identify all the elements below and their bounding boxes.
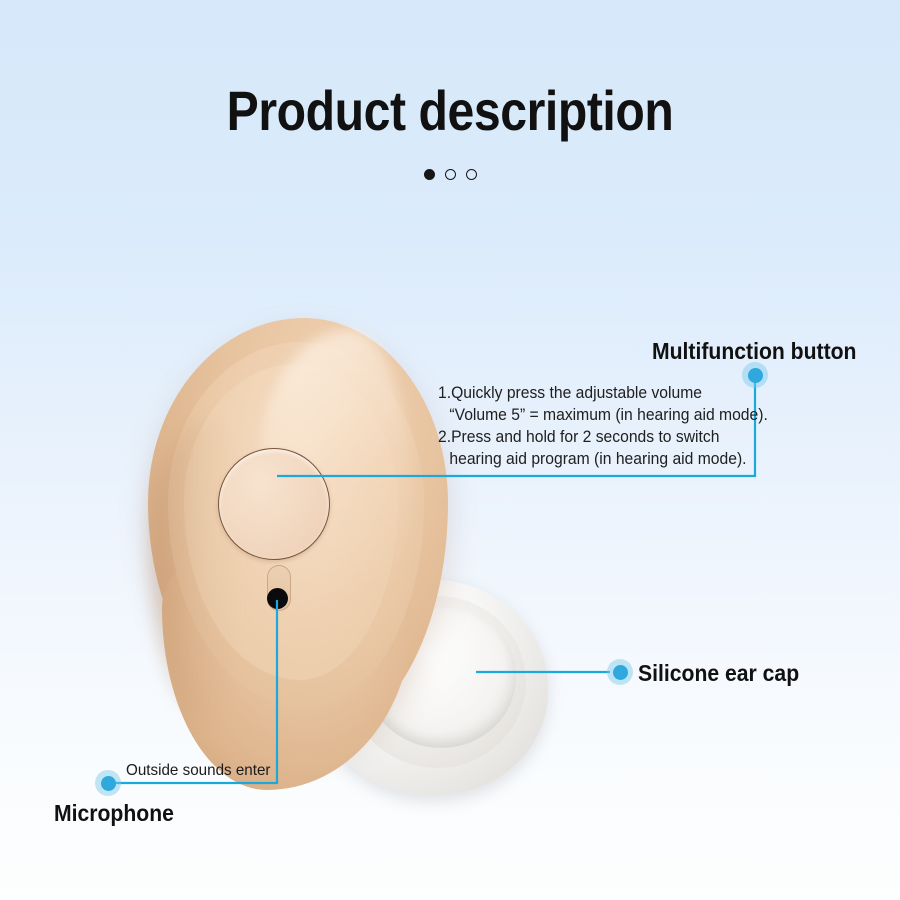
callout-subtitle-microphone: Outside sounds enter [126, 762, 270, 780]
callout-body-multifunction: 1.Quickly press the adjustable volume “V… [438, 382, 768, 470]
page-title: Product description [63, 78, 837, 143]
callout-title-microphone: Microphone [54, 800, 174, 827]
callout-title-silicone-ear-cap: Silicone ear cap [638, 660, 799, 687]
pager-dots[interactable] [0, 169, 900, 180]
pager-dot-2[interactable] [445, 169, 456, 180]
multifunction-button-shape[interactable] [218, 448, 330, 560]
microphone-port-icon [267, 588, 288, 609]
callout-title-multifunction: Multifunction button [652, 338, 856, 365]
callout-marker-microphone[interactable] [95, 770, 121, 796]
pager-dot-1[interactable] [424, 169, 435, 180]
callout-line-4: hearing aid program (in hearing aid mode… [438, 448, 768, 470]
callout-marker-silicone-ear-cap[interactable] [607, 659, 633, 685]
product-image-earbud [110, 300, 580, 820]
infographic-canvas: Product description Multifunction button [0, 0, 900, 900]
pager-dot-3[interactable] [466, 169, 477, 180]
callout-line-3: 2.Press and hold for 2 seconds to switch [438, 426, 768, 448]
callout-line-1: 1.Quickly press the adjustable volume [438, 382, 768, 404]
callout-line-2: “Volume 5” = maximum (in hearing aid mod… [438, 404, 768, 426]
